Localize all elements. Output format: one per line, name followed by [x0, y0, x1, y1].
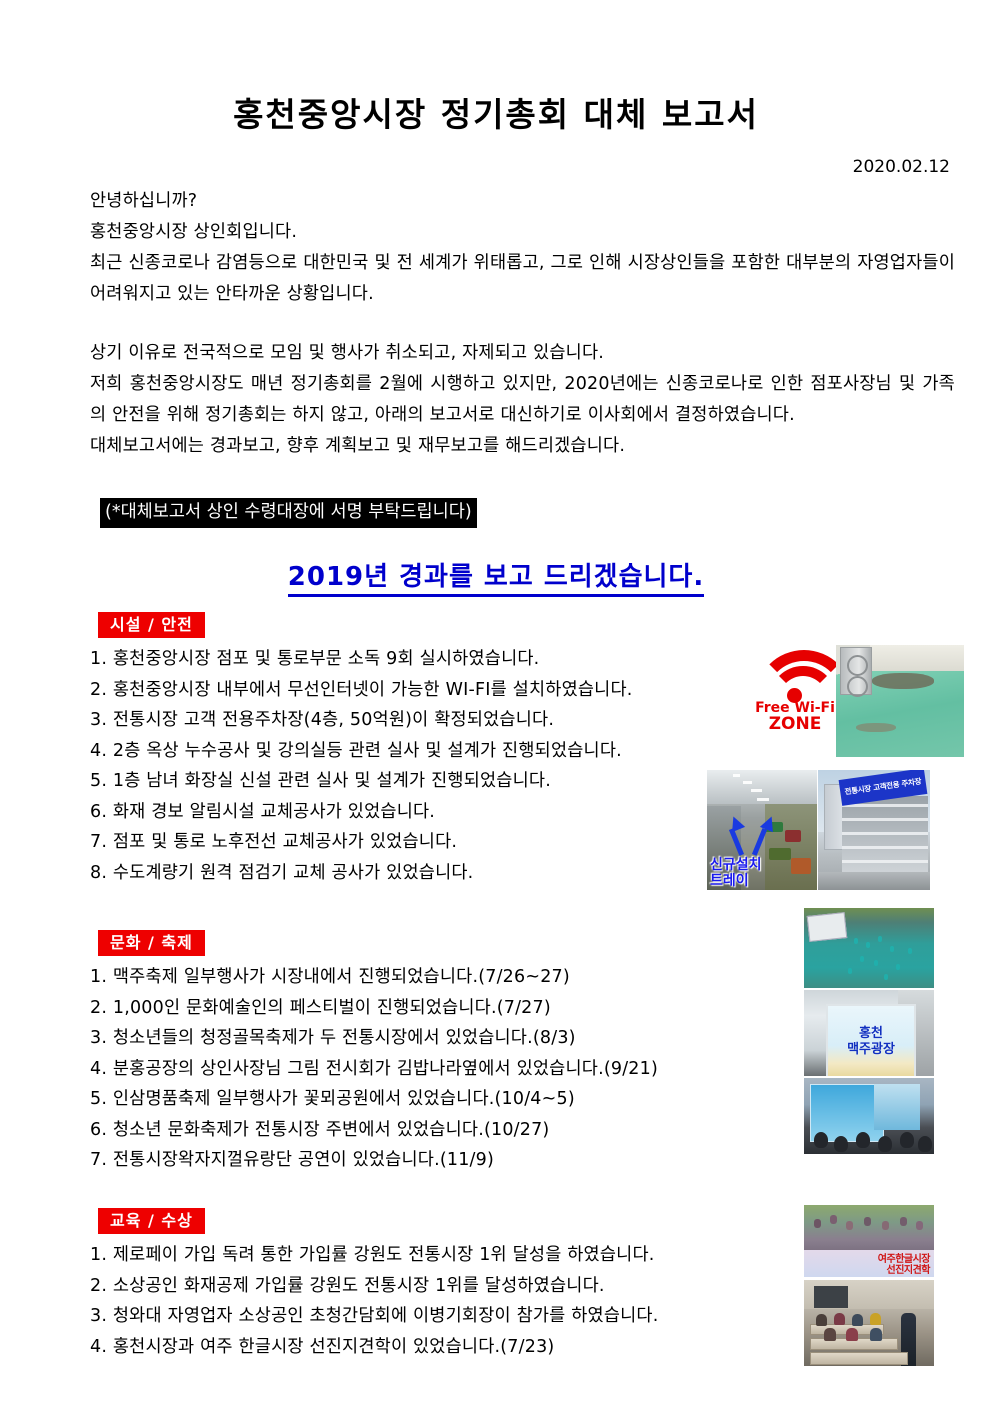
badge-facility-safety: 시설 / 안전: [98, 612, 205, 638]
market-tray-caption-line2: 트레이: [710, 874, 749, 889]
photo-market-new-tray: 신규설치 트레이: [707, 770, 817, 890]
photo-parking-building-render: 전통시장 고객전용 주차장: [818, 770, 930, 890]
intro-line-1: 안녕하십니까?: [90, 186, 955, 217]
list-education-award: 1. 제로페이 가입 독려 통한 가입률 강원도 전통시장 1위 달성을 하였습…: [90, 1240, 659, 1362]
intro-paragraph: 안녕하십니까? 홍천중앙시장 상인회입니다. 최근 신종코로나 감염등으로 대한…: [90, 186, 955, 310]
photo-festival-crowd: [804, 908, 934, 988]
list-item: 2. 1,000인 문화예술인의 페스티벌이 진행되었습니다.(7/27): [90, 993, 658, 1024]
photo-beer-plaza-banner: 홍천 맥주광장: [804, 990, 934, 1076]
photo-lecture-room: [804, 1280, 934, 1366]
photo-study-tour-group: 여주한글시장 선진지견학: [804, 1205, 934, 1277]
badge-education-award: 교육 / 수상: [98, 1208, 205, 1234]
body-line-3: 대체보고서에는 경과보고, 향후 계획보고 및 재무보고를 해드리겠습니다.: [90, 431, 955, 462]
list-item: 1. 제로페이 가입 독려 통한 가입률 강원도 전통시장 1위 달성을 하였습…: [90, 1240, 659, 1271]
signature-request-note: (*대체보고서 상인 수령대장에 서명 부탁드립니다): [100, 498, 477, 528]
intro-line-3: 최근 신종코로나 감염등으로 대한민국 및 전 세계가 위태롭고, 그로 인해 …: [90, 248, 955, 310]
list-item: 3. 청소년들의 청정골목축제가 두 전통시장에서 있었습니다.(8/3): [90, 1023, 658, 1054]
document-date: 2020.02.12: [853, 157, 950, 177]
progress-report-heading-text: 2019년 경과를 보고 드리겠습니다.: [288, 562, 704, 597]
badge-culture-festival: 문화 / 축제: [98, 930, 205, 956]
list-item: 1. 맥주축제 일부행사가 시장내에서 진행되었습니다.(7/26~27): [90, 962, 658, 993]
page-title: 홍천중앙시장 정기총회 대체 보고서: [0, 88, 992, 136]
body-line-1: 상기 이유로 전국적으로 모임 및 행사가 취소되고, 자제되고 있습니다.: [90, 338, 955, 369]
intro-line-2: 홍천중앙시장 상인회입니다.: [90, 217, 955, 248]
list-item: 2. 소상공인 화재공제 가입률 강원도 전통시장 1위를 달성하였습니다.: [90, 1271, 659, 1302]
progress-report-heading: 2019년 경과를 보고 드리겠습니다.: [0, 556, 992, 593]
list-item: 6. 청소년 문화축제가 전통시장 주변에서 있었습니다.(10/27): [90, 1115, 658, 1146]
list-facility-safety: 1. 홍천중앙시장 점포 및 통로부문 소독 9회 실시하였습니다. 2. 홍천…: [90, 644, 633, 888]
photo-rooftop-waterproofing: [836, 645, 964, 757]
list-item: 4. 분홍공장의 상인사장님 그림 전시회가 김밥나라옆에서 있었습니다.(9/…: [90, 1054, 658, 1085]
wifi-label-line2: ZONE: [755, 714, 835, 734]
beer-plaza-caption-line2: 맥주광장: [828, 1042, 914, 1057]
report-page: 홍천중앙시장 정기총회 대체 보고서 2020.02.12 안녕하십니까? 홍천…: [0, 0, 992, 1403]
market-tray-caption-line1: 신규설치: [710, 858, 762, 873]
list-item: 4. 2층 옥상 누수공사 및 강의실등 관련 실사 및 설계가 진행되었습니다…: [90, 736, 633, 767]
list-item: 8. 수도계량기 원격 점검기 교체 공사가 있었습니다.: [90, 858, 633, 889]
list-item: 3. 청와대 자영업자 소상공인 초청간담회에 이병기회장이 참가를 하였습니다…: [90, 1301, 659, 1332]
photo-festival-event: [804, 1078, 934, 1154]
list-item: 1. 홍천중앙시장 점포 및 통로부문 소독 9회 실시하였습니다.: [90, 644, 633, 675]
list-culture-festival: 1. 맥주축제 일부행사가 시장내에서 진행되었습니다.(7/26~27) 2.…: [90, 962, 658, 1176]
list-item: 7. 전통시장왁자지껄유랑단 공연이 있었습니다.(11/9): [90, 1145, 658, 1176]
list-item: 5. 인삼명품축제 일부행사가 꽃뫼공원에서 있었습니다.(10/4~5): [90, 1084, 658, 1115]
list-item: 2. 홍천중앙시장 내부에서 무선인터넷이 가능한 WI-FI를 설치하였습니다…: [90, 675, 633, 706]
list-item: 4. 홍천시장과 여주 한글시장 선진지견학이 있었습니다.(7/23): [90, 1332, 659, 1363]
list-item: 7. 점포 및 통로 노후전선 교체공사가 있었습니다.: [90, 827, 633, 858]
list-item: 5. 1층 남녀 화장실 신설 관련 실사 및 설계가 진행되었습니다.: [90, 766, 633, 797]
free-wifi-zone-icon: Free Wi-Fi ZONE: [755, 644, 835, 728]
study-tour-banner-line1: 여주한글시장: [878, 1254, 930, 1265]
body-line-2: 저희 홍천중앙시장도 매년 정기총회를 2월에 시행하고 있지만, 2020년에…: [90, 369, 955, 431]
body-paragraph: 상기 이유로 전국적으로 모임 및 행사가 취소되고, 자제되고 있습니다. 저…: [90, 338, 955, 462]
study-tour-banner-line2: 선진지견학: [887, 1265, 931, 1276]
list-item: 3. 전통시장 고객 전용주차장(4층, 50억원)이 확정되었습니다.: [90, 705, 633, 736]
list-item: 6. 화재 경보 알림시설 교체공사가 있었습니다.: [90, 797, 633, 828]
beer-plaza-caption-line1: 홍천: [828, 1026, 914, 1041]
